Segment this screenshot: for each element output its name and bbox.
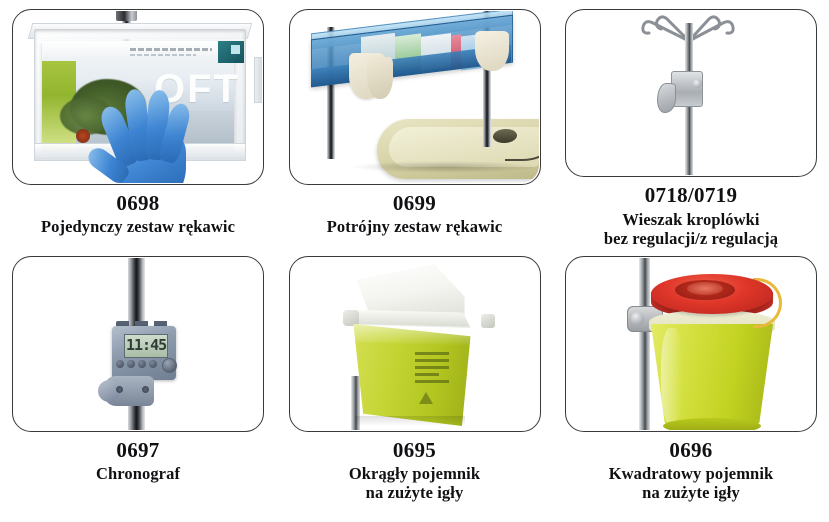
container-base-graphic — [663, 418, 761, 430]
product-image-card-0698: OFT — [12, 9, 264, 185]
product-description-line1: Wieszak kroplówki — [622, 210, 759, 229]
product-image-card-0696 — [565, 256, 817, 432]
chronograph-button[interactable] — [116, 360, 124, 368]
drop-shadow-graphic — [349, 161, 539, 173]
label-text-line — [415, 359, 449, 362]
glove-box-text-line-graphic — [130, 48, 212, 51]
dispenser-side-tab-graphic — [254, 57, 262, 103]
product-description-line1: Potrójny zestaw rękawic — [327, 217, 503, 236]
cart-cord-graphic — [505, 137, 539, 161]
product-code: 0718/0719 — [604, 183, 778, 207]
label-text-line — [415, 352, 449, 355]
product-description: Chronograf — [96, 464, 180, 483]
product-image-card-0695 — [289, 256, 541, 432]
hanging-glove-graphic — [367, 57, 393, 99]
product-description-line1: Pojedynczy zestaw rękawic — [41, 217, 235, 236]
product-description: Pojedynczy zestaw rękawic — [41, 217, 235, 236]
product-caption-0695: 0695 Okrągły pojemnik na zużyte igły — [349, 438, 480, 503]
product-caption-0696: 0696 Kwadratowy pojemnik na zużyte igły — [609, 438, 774, 503]
clamp-lever-graphic — [657, 83, 676, 113]
product-description-line2: na zużyte igły — [349, 483, 480, 502]
product-description: Wieszak kroplówki bez regulacji/z regula… — [604, 210, 778, 248]
product-item-0698[interactable]: OFT 0698 Pojedynczy — [0, 0, 276, 248]
product-image-0718-0719 — [567, 11, 815, 175]
product-description-line2: na zużyte igły — [609, 483, 774, 502]
chronograph-button[interactable] — [149, 360, 157, 368]
glove-box-seal-graphic — [76, 129, 90, 143]
lid-aperture-graphic — [687, 282, 723, 295]
chronograph-button[interactable] — [127, 360, 135, 368]
label-text-line — [415, 380, 449, 383]
hanging-glove-graphic — [475, 31, 509, 71]
glove-box-text-line-graphic — [130, 54, 196, 56]
product-code: 0696 — [609, 438, 774, 462]
chronograph-button[interactable] — [138, 360, 146, 368]
product-description: Potrójny zestaw rękawic — [327, 217, 503, 236]
bracket-screw-graphic — [142, 386, 149, 393]
product-image-0698: OFT — [14, 11, 262, 183]
glove-box-teal-square-graphic — [231, 45, 240, 54]
sharps-container-label-graphic — [415, 352, 459, 410]
product-code: 0699 — [327, 191, 503, 215]
product-catalog-grid: OFT 0698 Pojedynczy — [0, 0, 829, 522]
product-image-0695 — [291, 258, 539, 430]
product-code: 0695 — [349, 438, 480, 462]
product-image-0699 — [291, 11, 539, 183]
product-image-card-0697: 11:45 — [12, 256, 264, 432]
label-text-line — [415, 366, 449, 369]
product-image-card-0718-0719 — [565, 9, 817, 177]
chronograph-main-button[interactable] — [162, 358, 177, 373]
bracket-screw-graphic — [116, 386, 123, 393]
product-caption-0699: 0699 Potrójny zestaw rękawic — [327, 191, 503, 236]
sharps-container-side-tab-graphic — [481, 314, 495, 328]
product-description: Kwadratowy pojemnik na zużyte igły — [609, 464, 774, 502]
container-highlight-graphic — [661, 328, 683, 424]
blue-glove-graphic — [100, 87, 204, 183]
product-description-line1: Chronograf — [96, 464, 180, 483]
product-item-0695[interactable]: 0695 Okrągły pojemnik na zużyte igły — [276, 248, 553, 522]
clamp-knob-graphic — [631, 312, 644, 325]
pole-graphic — [639, 258, 650, 430]
product-code: 0698 — [41, 191, 235, 215]
product-item-0696[interactable]: 0696 Kwadratowy pojemnik na zużyte igły — [553, 248, 829, 522]
product-item-0699[interactable]: 0699 Potrójny zestaw rękawic — [276, 0, 553, 248]
biohazard-warning-icon — [419, 392, 433, 404]
product-description-line1: Okrągły pojemnik — [349, 464, 480, 483]
product-caption-0698: 0698 Pojedynczy zestaw rękawic — [41, 191, 235, 236]
product-item-0718-0719[interactable]: 0718/0719 Wieszak kroplówki bez regulacj… — [553, 0, 829, 248]
product-image-0697: 11:45 — [14, 258, 262, 430]
label-text-line — [415, 373, 439, 376]
chronograph-button-row[interactable] — [116, 360, 160, 369]
chronograph-display-value: 11:45 — [126, 336, 166, 354]
product-description-line2: bez regulacji/z regulacją — [604, 229, 778, 248]
container-shadow-graphic — [355, 416, 465, 426]
product-code: 0697 — [96, 438, 180, 462]
glove-box-white-strip-graphic — [42, 41, 234, 61]
sharps-container-side-tab-graphic — [343, 310, 359, 326]
product-caption-0697: 0697 Chronograf — [96, 438, 180, 483]
product-description-line1: Kwadratowy pojemnik — [609, 464, 774, 483]
product-description: Okrągły pojemnik na zużyte igły — [349, 464, 480, 502]
product-caption-0718-0719: 0718/0719 Wieszak kroplówki bez regulacj… — [604, 183, 778, 248]
product-image-card-0699 — [289, 9, 541, 185]
product-image-0696 — [567, 258, 815, 430]
pole-cap-graphic — [116, 11, 137, 21]
product-item-0697[interactable]: 11:45 0697 Chronograf — [0, 248, 276, 522]
clamp-knob-graphic — [693, 79, 702, 88]
